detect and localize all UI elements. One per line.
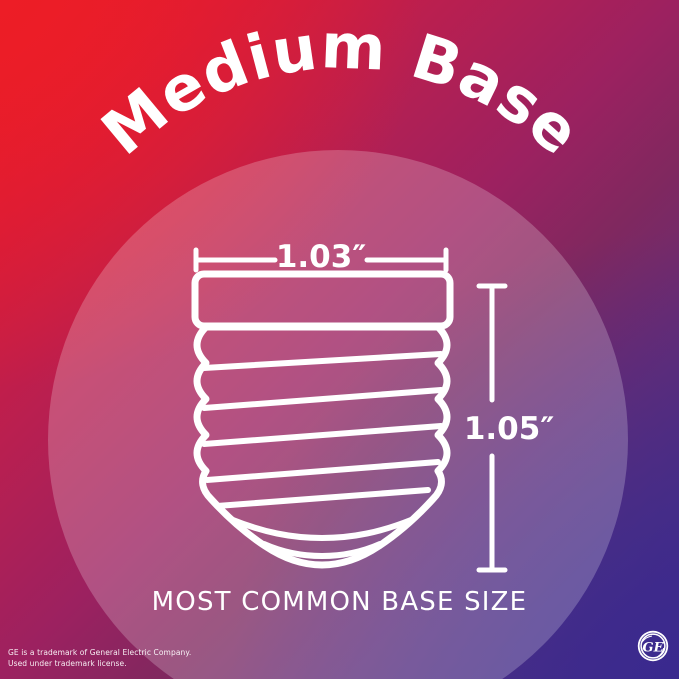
ge-monogram-logo: GE [636,629,670,663]
thread-line [204,390,441,408]
trademark-line-1: GE is a trademark of General Electric Co… [8,647,191,658]
headline-textpath: Medium Base [88,9,595,169]
thread-line [204,354,441,368]
height-dimension [470,283,514,573]
trademark-line-2: Used under trademark license. [8,658,191,669]
base-collar [195,274,450,326]
thread-line [207,462,438,480]
trademark-notice: GE is a trademark of General Electric Co… [8,647,191,669]
product-infographic: Medium Base 1.03″ 1.05″ [0,0,679,679]
headline: Medium Base [0,34,679,204]
caption: MOST COMMON BASE SIZE [0,587,679,617]
ge-logo-text: GE [642,640,664,655]
thread-line [217,490,428,506]
screw-base-illustration [185,268,460,573]
headline-text: Medium Base [88,9,595,169]
tip-contour-upper [233,520,411,538]
thread-line [204,426,441,444]
